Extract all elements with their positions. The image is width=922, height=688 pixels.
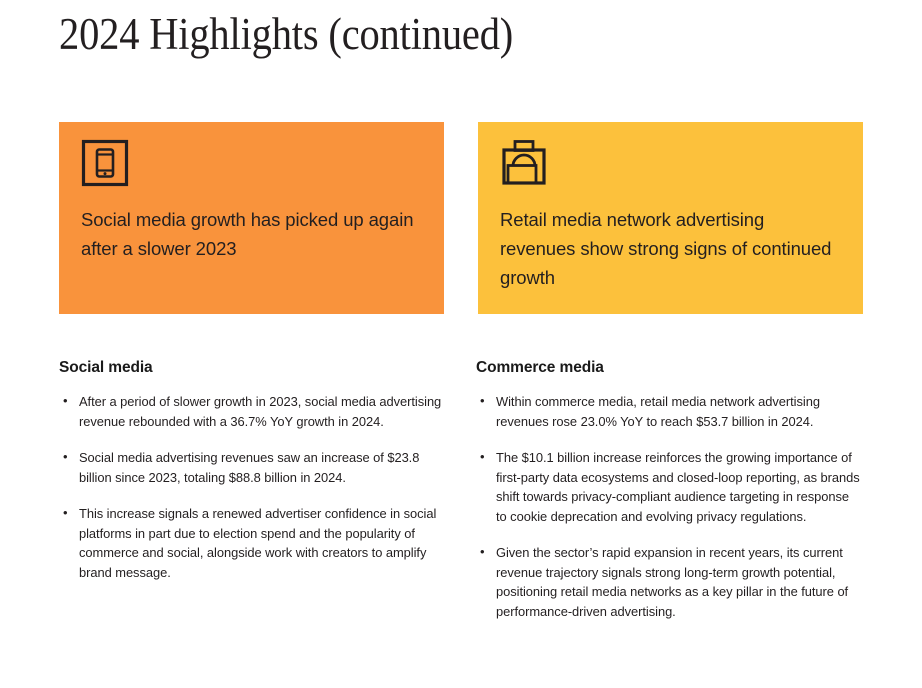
list-item: Social media advertising revenues saw an… [59, 448, 446, 487]
column-heading: Commerce media [476, 358, 863, 378]
mobile-phone-icon [81, 139, 129, 187]
list-item: This increase signals a renewed advertis… [59, 504, 446, 582]
highlight-cards-row: Social media growth has picked up again … [59, 122, 863, 314]
page-title: 2024 Highlights (continued) [59, 6, 513, 62]
bullet-list: After a period of slower growth in 2023,… [59, 392, 446, 582]
list-item: Within commerce media, retail media netw… [476, 392, 863, 431]
shopping-basket-icon [500, 139, 548, 187]
social-media-highlight-card: Social media growth has picked up again … [59, 122, 444, 314]
card-heading: Social media growth has picked up again … [81, 205, 422, 263]
list-item: Given the sector’s rapid expansion in re… [476, 543, 863, 621]
list-item: The $10.1 billion increase reinforces th… [476, 448, 863, 526]
body-columns: Social media After a period of slower gr… [59, 358, 863, 621]
commerce-media-column: Commerce media Within commerce media, re… [476, 358, 863, 621]
card-heading: Retail media network advertising revenue… [500, 205, 841, 292]
list-item: After a period of slower growth in 2023,… [59, 392, 446, 431]
bullet-list: Within commerce media, retail media netw… [476, 392, 863, 621]
column-heading: Social media [59, 358, 446, 378]
commerce-media-highlight-card: Retail media network advertising revenue… [478, 122, 863, 314]
social-media-column: Social media After a period of slower gr… [59, 358, 446, 621]
slide-page: 2024 Highlights (continued) Social media… [0, 0, 922, 688]
